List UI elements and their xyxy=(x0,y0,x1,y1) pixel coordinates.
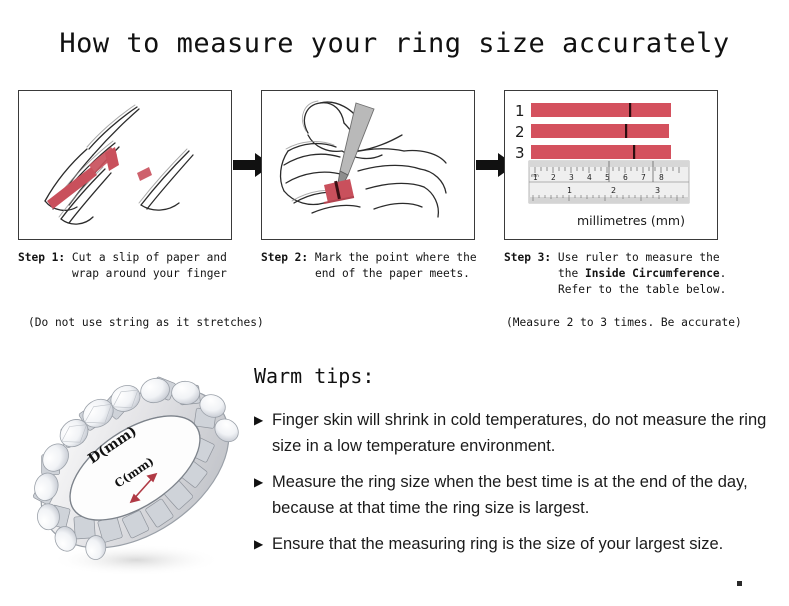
step-1-label: Step 1: xyxy=(18,251,65,264)
triangle-bullet-icon: ▶ xyxy=(254,532,272,557)
warm-tip-item-1: ▶ Finger skin will shrink in cold temper… xyxy=(254,408,774,459)
ring-size-guide-page: How to measure your ring size accurately xyxy=(0,0,789,606)
step-2-caption: Step 2: Mark the point where the end of … xyxy=(261,250,497,282)
step-2-line1: Mark the point where the xyxy=(315,251,477,264)
svg-text:2: 2 xyxy=(551,173,556,182)
step-3-line1: Use ruler to measure the xyxy=(558,251,720,264)
ring-diagram: D(mm) C(mm) xyxy=(14,352,256,584)
page-title: How to measure your ring size accurately xyxy=(0,28,789,59)
warm-tip-text-3: Ensure that the measuring ring is the si… xyxy=(272,532,723,558)
step-1-line2: wrap around your finger xyxy=(18,266,254,282)
svg-text:7: 7 xyxy=(641,173,646,182)
step-3-line3: Refer to the table below. xyxy=(504,282,754,298)
triangle-bullet-icon: ▶ xyxy=(254,408,272,433)
step-3-line2: the Inside Circumference. xyxy=(504,266,754,282)
warm-tip-text-1: Finger skin will shrink in cold temperat… xyxy=(272,408,774,459)
step-2-illustration-panel xyxy=(261,90,475,240)
strip-label-2: 2 xyxy=(515,123,525,141)
step-3-line2-pre: the xyxy=(558,267,585,280)
svg-text:1: 1 xyxy=(567,186,572,195)
step-1-caption: Step 1: Cut a slip of paper and wrap aro… xyxy=(18,250,254,282)
step-2-line2: end of the paper meets. xyxy=(261,266,497,282)
svg-text:2: 2 xyxy=(611,186,616,195)
svg-text:3: 3 xyxy=(569,173,574,182)
step-3-illustration-panel: 1 2 3 xyxy=(504,90,718,240)
ruler-unit-caption: millimetres (mm) xyxy=(577,213,685,228)
corner-artifact-mark xyxy=(737,581,742,586)
warm-tip-item-2: ▶ Measure the ring size when the best ti… xyxy=(254,470,774,521)
strip-label-1: 1 xyxy=(515,102,525,120)
warm-tips-section: Warm tips: ▶ Finger skin will shrink in … xyxy=(254,364,774,569)
step-3-inside-circumference-emphasis: Inside Circumference xyxy=(585,267,720,280)
warm-tip-text-2: Measure the ring size when the best time… xyxy=(272,470,774,521)
strip-label-3: 3 xyxy=(515,144,525,162)
svg-text:mm: mm xyxy=(531,173,539,178)
warm-tips-title: Warm tips: xyxy=(254,364,774,388)
step-2-label: Step 2: xyxy=(261,251,308,264)
svg-text:4: 4 xyxy=(587,173,592,182)
ruler: 123 456 78 mm 123 xyxy=(529,161,689,203)
svg-text:8: 8 xyxy=(659,173,664,182)
step-3-label: Step 3: xyxy=(504,251,551,264)
step-1-line1: Cut a slip of paper and xyxy=(72,251,227,264)
svg-text:6: 6 xyxy=(623,173,628,182)
measured-paper-strips xyxy=(531,103,671,159)
svg-text:3: 3 xyxy=(655,186,660,195)
triangle-bullet-icon: ▶ xyxy=(254,470,272,495)
step-3-note: (Measure 2 to 3 times. Be accurate) xyxy=(506,316,742,329)
warm-tip-item-3: ▶ Ensure that the measuring ring is the … xyxy=(254,532,774,558)
step-1-note: (Do not use string as it stretches) xyxy=(28,316,264,329)
step-1-illustration-panel xyxy=(18,90,232,240)
step-3-line2-post: . xyxy=(720,267,727,280)
step-3-caption: Step 3: Use ruler to measure the the Ins… xyxy=(504,250,754,298)
